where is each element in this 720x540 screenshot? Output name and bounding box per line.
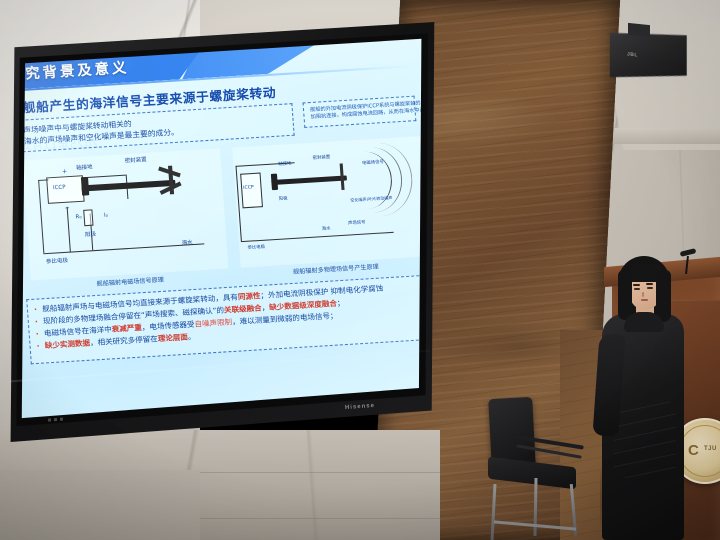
presenter-hair-right bbox=[656, 270, 671, 322]
label-seawater: 海水 bbox=[181, 238, 193, 247]
presenter bbox=[596, 256, 686, 540]
speaker-bracket bbox=[628, 23, 650, 37]
office-chair bbox=[476, 398, 600, 540]
presenter-nose bbox=[642, 292, 644, 297]
chair-leg-front-left bbox=[491, 484, 497, 540]
label-acoustic-signal: 声场信号 bbox=[348, 219, 366, 226]
label-shaft-ground-right: 轴接地 bbox=[278, 160, 292, 167]
presenter-eye-left bbox=[634, 288, 640, 290]
label-seal-device: 密封装置 bbox=[124, 155, 147, 164]
label-shaft-ground: 轴接地 bbox=[76, 162, 93, 171]
jacket-quilting bbox=[614, 400, 676, 478]
label-seawater-right: 海水 bbox=[322, 225, 331, 232]
label-seal-right: 密封装置 bbox=[312, 154, 330, 161]
emblem-text: TJU bbox=[704, 446, 717, 452]
label-anode-right: 阳极 bbox=[279, 195, 288, 202]
soffit-trim bbox=[612, 128, 720, 144]
label-iccp-right: ICCP bbox=[243, 185, 254, 191]
label-anode: 阳极 bbox=[85, 230, 97, 239]
label-reference-electrode: 参比电极 bbox=[46, 256, 69, 265]
label-plus: + bbox=[62, 168, 68, 175]
presenter-brow-right bbox=[646, 283, 653, 285]
diagram-left: ICCP + − R₀ I₀ bbox=[22, 148, 228, 280]
label-iccp: ICCP bbox=[53, 184, 66, 191]
presenter-brow-left bbox=[633, 284, 640, 286]
label-r0: R₀ bbox=[75, 214, 81, 220]
chair-leg-rear bbox=[533, 478, 537, 536]
resistor-box bbox=[83, 209, 93, 226]
diagram-right: ICCP 轴接地 密封装置 阳极 参比电极 海水 电磁场信号 空化噪声/叶片转动… bbox=[232, 136, 428, 268]
speaker-brand-label: JBL bbox=[627, 51, 638, 58]
emblem-glyph-icon: C bbox=[688, 442, 699, 459]
floor-baseboard bbox=[0, 470, 200, 540]
presenter-hair-left bbox=[618, 270, 632, 320]
presentation-slide: 研究背景及意义 舰船产生的海洋信号主要来源于螺旋桨转动 2025年11月18日 … bbox=[16, 34, 428, 430]
tv-screen[interactable]: 研究背景及意义 舰船产生的海洋信号主要来源于螺旋桨转动 2025年11月18日 … bbox=[16, 34, 428, 430]
presenter-mouth bbox=[641, 299, 648, 301]
label-ref-electrode-right: 参比电极 bbox=[247, 244, 265, 251]
label-i0: I₀ bbox=[104, 213, 108, 219]
conference-room-photo: JBL 研究背景及意义 舰船产生的海洋信号主要来源于螺旋桨转动 2025年11月… bbox=[0, 0, 720, 540]
presenter-collar bbox=[624, 312, 664, 332]
presenter-eye-right bbox=[647, 287, 653, 289]
chair-seat bbox=[488, 457, 576, 490]
note-box-right: 舰船的外加电流阴极保护ICCP系统与螺旋桨轴的 加阻抗连接，构成腐蚀电流回路，从… bbox=[303, 96, 417, 128]
